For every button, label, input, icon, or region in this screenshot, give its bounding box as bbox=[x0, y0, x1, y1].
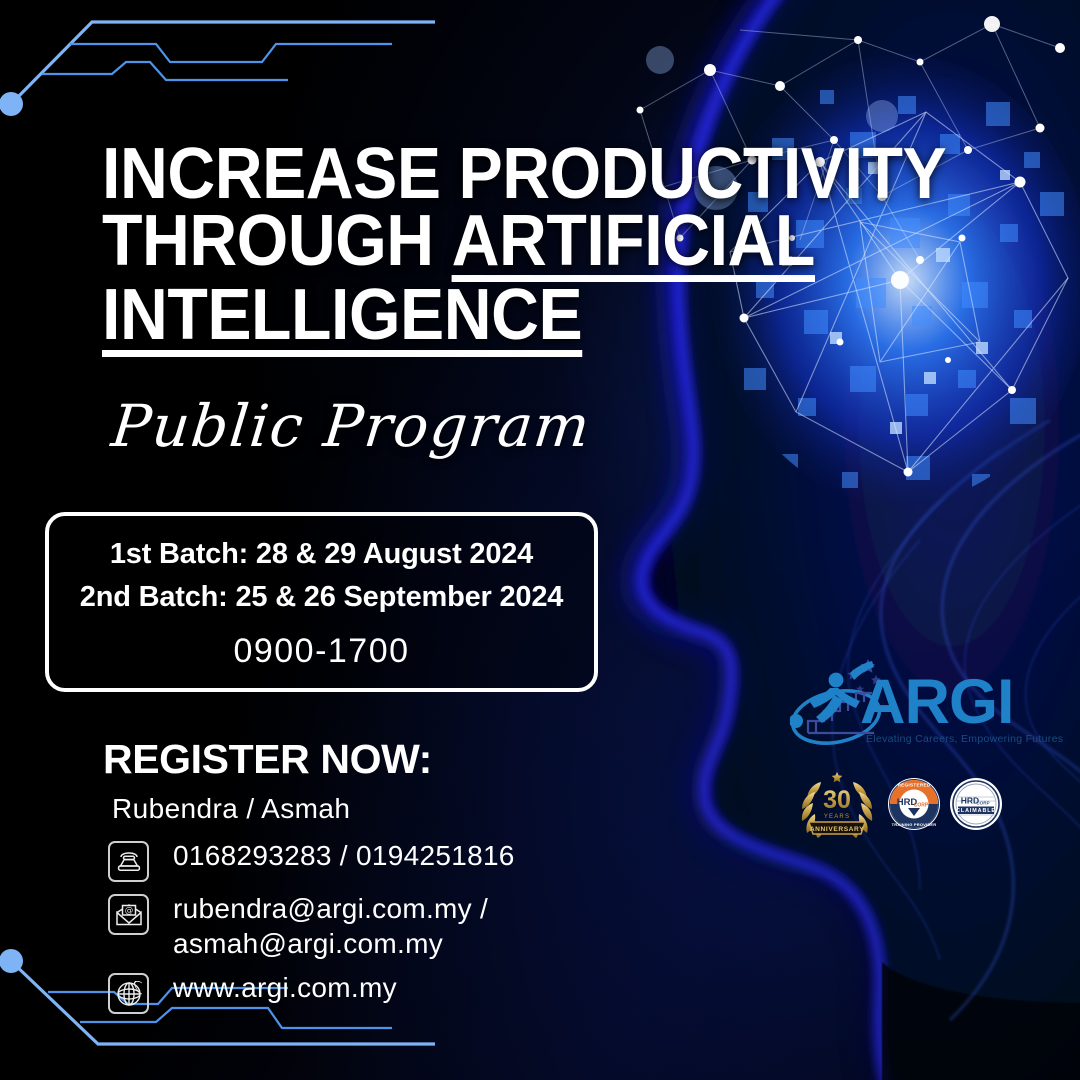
phone-numbers[interactable]: 0168293283 / 0194251816 bbox=[173, 838, 515, 873]
headline-line-3-underlined: INTELLIGENCE bbox=[102, 284, 582, 356]
training-provider-arc-label: TRAINING PROVIDER bbox=[892, 822, 937, 827]
argi-tagline: Elevating Careers, Empowering Futures bbox=[866, 733, 1063, 745]
website-url[interactable]: www.argi.com.my bbox=[173, 970, 397, 1005]
hrdcorp-claimable-badge: HRD CORP CLAIMABLE bbox=[949, 777, 1003, 831]
argi-logo: ARGI Elevating Careers, Empowering Futur… bbox=[790, 655, 1035, 760]
globe-icon bbox=[108, 973, 149, 1014]
corp-text: CORP bbox=[976, 801, 989, 806]
poster-canvas: INCREASE PRODUCTIVITY THROUGH ARTIFICIAL… bbox=[0, 0, 1080, 1080]
headline-line-2-prefix: THROUGH bbox=[102, 201, 452, 281]
argi-wordmark: ARGI bbox=[860, 671, 1014, 734]
accreditation-badges: 30 YEARS ANNIVERSARY RE bbox=[795, 770, 1003, 838]
svg-text:@: @ bbox=[124, 906, 133, 916]
contact-row-phone: 0168293283 / 0194251816 bbox=[108, 838, 628, 882]
batch-1-dates: 1st Batch: 28 & 29 August 2024 bbox=[110, 533, 533, 576]
page-title: INCREASE PRODUCTIVITY THROUGH ARTIFICIAL… bbox=[102, 141, 728, 357]
anniversary-years-label: YEARS bbox=[824, 814, 850, 820]
session-time: 0900-1700 bbox=[233, 632, 409, 671]
headline-line-3: INTELLIGENCE bbox=[102, 282, 728, 356]
contact-list: 0168293283 / 0194251816 @ rubendra@argi.… bbox=[108, 838, 628, 1023]
schedule-box: 1st Batch: 28 & 29 August 2024 2nd Batch… bbox=[45, 512, 598, 692]
telephone-icon bbox=[108, 841, 149, 882]
batch-2-dates: 2nd Batch: 25 & 26 September 2024 bbox=[80, 576, 563, 619]
email-addresses[interactable]: rubendra@argi.com.my / asmah@argi.com.my bbox=[173, 891, 628, 961]
headline-line-1: INCREASE PRODUCTIVITY bbox=[102, 141, 728, 208]
email-icon: @ bbox=[108, 894, 149, 935]
headline-line-2: THROUGH ARTIFICIAL bbox=[102, 208, 728, 282]
subtitle-script: Public Program bbox=[108, 392, 594, 460]
corp-text: CORP bbox=[914, 803, 929, 809]
poster-content: INCREASE PRODUCTIVITY THROUGH ARTIFICIAL… bbox=[0, 0, 1080, 1080]
headline-line-2-underlined: ARTIFICIAL bbox=[452, 210, 815, 282]
registered-arc-label: REGISTERED bbox=[898, 783, 931, 788]
anniversary-number: 30 bbox=[823, 786, 851, 814]
contact-row-email: @ rubendra@argi.com.my / asmah@argi.com.… bbox=[108, 891, 628, 961]
contact-persons: Rubendra / Asmah bbox=[112, 793, 350, 825]
claimable-banner-label: CLAIMABLE bbox=[956, 808, 996, 814]
anniversary-ribbon-label: ANNIVERSARY bbox=[810, 826, 864, 833]
register-heading: REGISTER NOW: bbox=[103, 736, 432, 783]
hrdcorp-registered-badge: REGISTERED TRAINING PROVIDER HRD CORP bbox=[887, 777, 941, 831]
anniversary-badge: 30 YEARS ANNIVERSARY bbox=[795, 770, 879, 838]
contact-row-website: www.argi.com.my bbox=[108, 970, 628, 1014]
